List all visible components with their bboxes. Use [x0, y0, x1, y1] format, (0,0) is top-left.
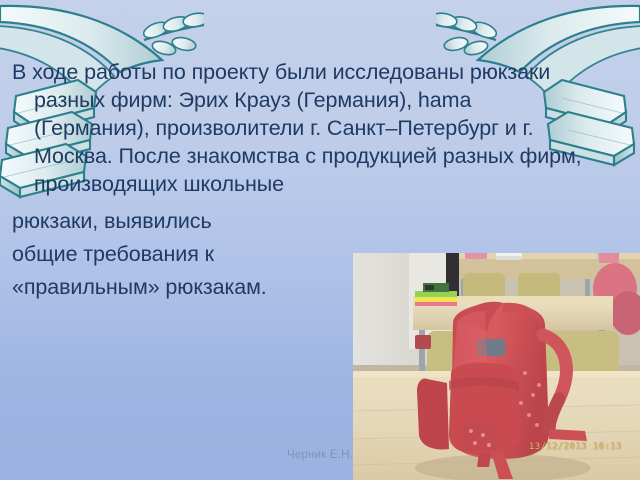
- body-tail-line: рюкзаки, выявились: [12, 205, 588, 238]
- footer-credit: Черник Е.Н.: [0, 449, 640, 461]
- body-paragraph: В ходе работы по проекту были исследован…: [12, 58, 588, 198]
- classroom-backpack-photo: 13/12/2013 16:13: [353, 253, 640, 480]
- presentation-slide: В ходе работы по проекту были исследован…: [0, 0, 640, 480]
